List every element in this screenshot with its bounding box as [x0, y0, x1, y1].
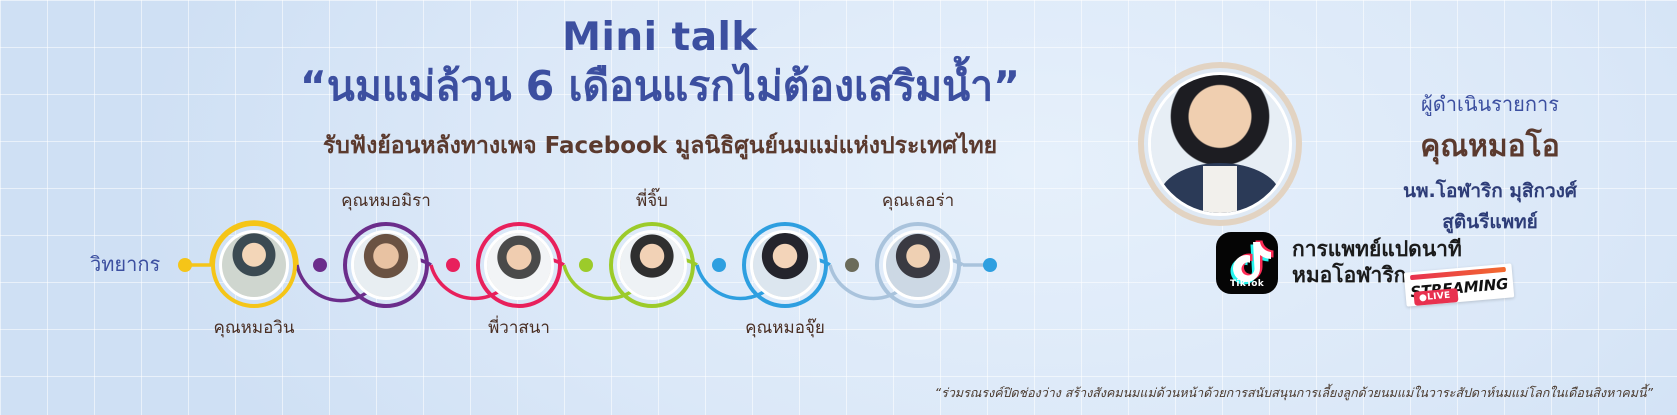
- speaker-photo-frame: [617, 230, 687, 300]
- mini-talk-title: Mini talk: [210, 18, 1110, 59]
- speaker-avatar: [487, 233, 551, 297]
- promo-banner: Mini talk “นมแม่ล้วน 6 เดือนแรกไม่ต้องเส…: [0, 0, 1677, 415]
- speaker-name: คุณหมอวิน: [154, 314, 354, 341]
- speaker-card[interactable]: คุณหมอวิน: [211, 222, 297, 308]
- footer-note: “ร่วมรณรงค์ปิดช่องว่าง สร้างสังคมนมแม่ด้…: [0, 383, 1653, 403]
- speaker-photo-frame: [750, 230, 820, 300]
- subtitle-text: รับฟังย้อนหลังทางเพจ Facebook มูลนิธิศูน…: [210, 128, 1110, 164]
- host-role-label: ผู้ดำเนินรายการ: [1318, 88, 1662, 120]
- speaker-name: คุณหมอมิรา: [286, 187, 486, 214]
- host-nickname: คุณหมอโอ: [1318, 123, 1662, 170]
- host-avatar-frame: [1148, 72, 1292, 216]
- speaker-card[interactable]: คุณเลอร่า: [875, 222, 961, 308]
- speaker-name: พี่จิ๊บ: [552, 187, 752, 214]
- speaker-avatar: [354, 233, 418, 297]
- host-info-block: ผู้ดำเนินรายการ คุณหมอโอ นพ.โอฬาริก มุสิ…: [1318, 88, 1662, 237]
- main-quote-title: “นมแม่ล้วน 6 เดือนแรกไม่ต้องเสริมน้ำ”: [210, 61, 1110, 112]
- channel-name-line1: การแพทย์แปดนาที: [1292, 237, 1462, 263]
- speaker-avatar: [222, 233, 286, 297]
- speaker-name: พี่วาสนา: [419, 314, 619, 341]
- host-full-name: นพ.โอฬาริก มุสิกวงศ์: [1318, 176, 1662, 206]
- speaker-avatar: [753, 233, 817, 297]
- speaker-name: คุณหมอจุ๊ย: [685, 314, 885, 341]
- headline-block: Mini talk “นมแม่ล้วน 6 เดือนแรกไม่ต้องเส…: [210, 18, 1110, 164]
- speaker-avatar: [620, 233, 684, 297]
- speaker-photo-frame: [219, 230, 289, 300]
- speaker-card[interactable]: พี่จิ๊บ: [609, 222, 695, 308]
- speaker-card[interactable]: พี่วาสนา: [476, 222, 562, 308]
- speaker-card[interactable]: คุณหมอมิรา: [343, 222, 429, 308]
- speaker-photo-frame: [484, 230, 554, 300]
- speaker-photo-frame: [351, 230, 421, 300]
- tiktok-caption: TikTok: [1216, 279, 1278, 289]
- speakers-section: วิทยากร: [0, 180, 1060, 360]
- live-badge: ●LIVE: [1413, 288, 1458, 306]
- speaker-avatar: [886, 233, 950, 297]
- host-avatar: [1138, 62, 1302, 226]
- tiktok-icon[interactable]: TikTok: [1216, 232, 1278, 294]
- speaker-card[interactable]: คุณหมอจุ๊ย: [742, 222, 828, 308]
- speaker-photo-frame: [883, 230, 953, 300]
- speaker-name: คุณเลอร่า: [818, 187, 1018, 214]
